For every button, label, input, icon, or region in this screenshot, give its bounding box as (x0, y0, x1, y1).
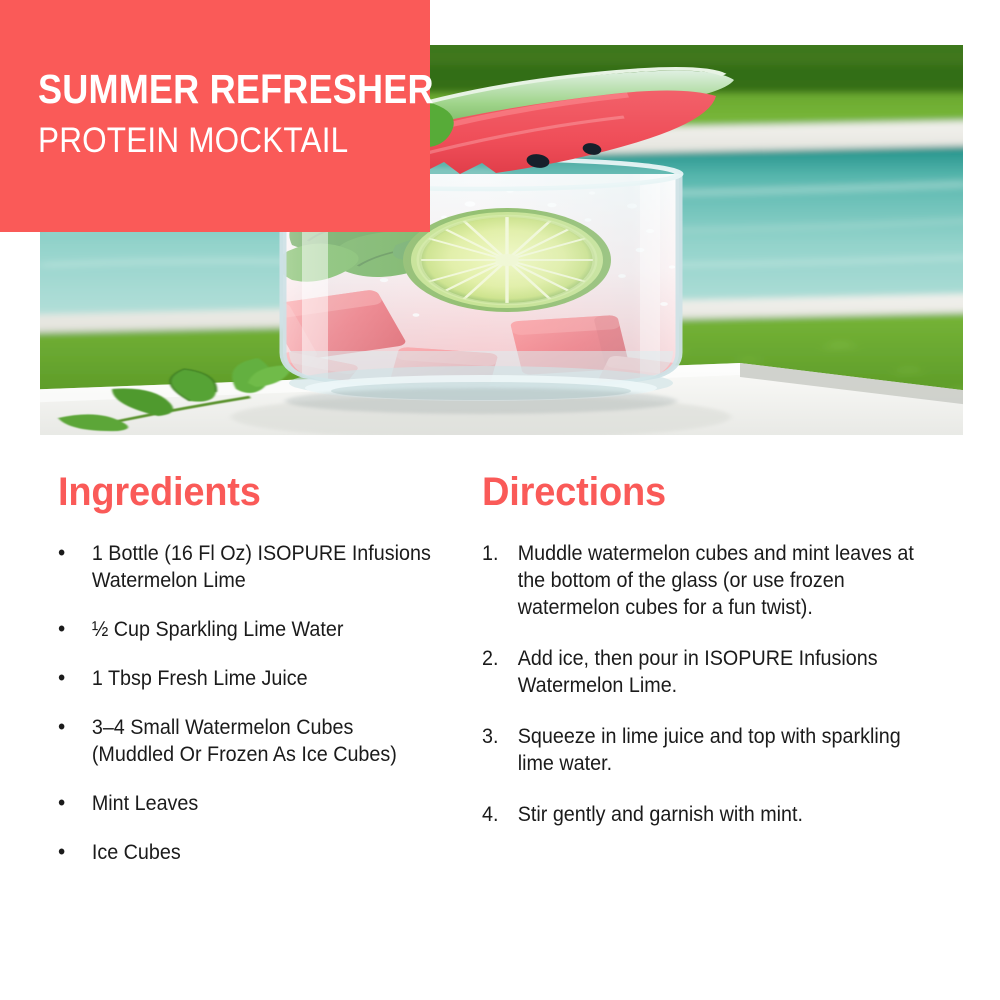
direction-step: 1. Muddle watermelon cubes and mint leav… (482, 540, 933, 621)
ingredient-text: 3–4 Small Watermelon Cubes (Muddled Or F… (92, 714, 434, 768)
step-text: Stir gently and garnish with mint. (518, 801, 933, 828)
ingredient-item: • Ice Cubes (58, 839, 434, 866)
bullet-icon: • (58, 839, 75, 865)
directions-heading: Directions (482, 470, 938, 514)
step-number: 1. (482, 540, 510, 567)
ingredient-text: ½ Cup Sparkling Lime Water (92, 616, 434, 643)
recipe-subtitle: PROTEIN MOCKTAIL (38, 122, 348, 160)
title-banner: SUMMER REFRESHER PROTEIN MOCKTAIL (0, 0, 430, 232)
ingredients-list: • 1 Bottle (16 Fl Oz) ISOPURE Infusions … (58, 540, 458, 866)
direction-step: 2. Add ice, then pour in ISOPURE Infusio… (482, 645, 933, 699)
direction-step: 4. Stir gently and garnish with mint. (482, 801, 933, 828)
direction-step: 3. Squeeze in lime juice and top with sp… (482, 723, 933, 777)
bullet-icon: • (58, 665, 75, 691)
bullet-icon: • (58, 616, 75, 642)
ingredient-item: • 1 Bottle (16 Fl Oz) ISOPURE Infusions … (58, 540, 434, 594)
step-text: Muddle watermelon cubes and mint leaves … (518, 540, 933, 621)
bullet-icon: • (58, 540, 75, 566)
ingredient-item: • 3–4 Small Watermelon Cubes (Muddled Or… (58, 714, 434, 768)
directions-column: Directions 1. Muddle watermelon cubes an… (482, 470, 962, 852)
step-number: 4. (482, 801, 510, 828)
ingredient-item: • 1 Tbsp Fresh Lime Juice (58, 665, 434, 692)
ingredient-text: Ice Cubes (92, 839, 434, 866)
ingredients-column: Ingredients • 1 Bottle (16 Fl Oz) ISOPUR… (58, 470, 458, 888)
step-number: 3. (482, 723, 510, 750)
ingredient-item: • Mint Leaves (58, 790, 434, 817)
ingredient-text: 1 Bottle (16 Fl Oz) ISOPURE Infusions Wa… (92, 540, 434, 594)
ingredient-text: 1 Tbsp Fresh Lime Juice (92, 665, 434, 692)
step-text: Add ice, then pour in ISOPURE Infusions … (518, 645, 933, 699)
directions-list: 1. Muddle watermelon cubes and mint leav… (482, 540, 962, 828)
recipe-title: SUMMER REFRESHER (38, 67, 434, 111)
ingredient-text: Mint Leaves (92, 790, 434, 817)
step-text: Squeeze in lime juice and top with spark… (518, 723, 933, 777)
ingredient-item: • ½ Cup Sparkling Lime Water (58, 616, 434, 643)
bullet-icon: • (58, 714, 75, 740)
bullet-icon: • (58, 790, 75, 816)
ingredients-heading: Ingredients (58, 470, 438, 514)
step-number: 2. (482, 645, 510, 672)
